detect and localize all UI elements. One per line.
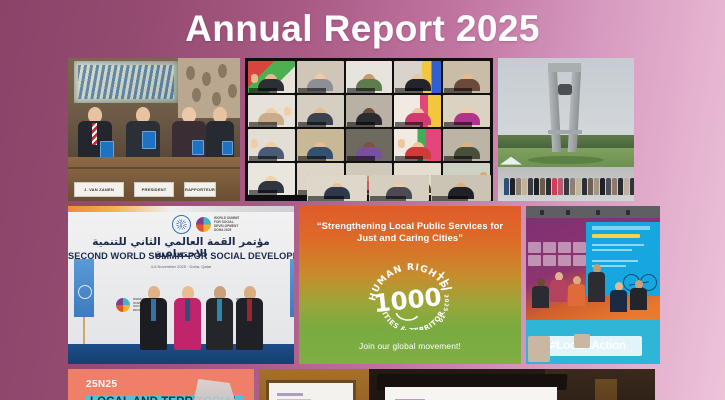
page-title-bar: Annual Report 2025 [0,0,725,56]
collage-tile-un-panel-photo[interactable]: J. VAN ZANEN PRESIDENT RAPPORTEUR [68,58,240,201]
collage-row-bottom: 25N25 LOCAL AND TERRITORIAL GOVERNMENTS [68,369,655,400]
speaker [588,264,605,302]
video-participant-tile[interactable] [248,163,295,195]
video-participant-tile[interactable] [443,95,490,127]
projection-screen [74,61,178,103]
delegate [206,286,233,350]
collage-tile-local-territorial-card[interactable]: 25N25 LOCAL AND TERRITORIAL GOVERNMENTS [68,369,254,400]
lawn [498,148,634,168]
nameplate: J. VAN ZANEN [74,182,124,197]
audience-member [532,278,549,308]
banner-dates: 4-6 November 2025 · Doha, Qatar [68,264,294,269]
monument-crossbeam [548,130,582,134]
audience-member [630,280,647,310]
video-participant-tile[interactable] [248,61,295,93]
wooden-column [595,379,617,400]
collage-tile-social-summit-photo[interactable]: WORLD SUMMIT FOR SOCIAL DEVELOPMENT DOHA… [68,206,294,364]
video-tile-grid-last-row [307,175,491,201]
collage-tile-human-rights-cities-card[interactable]: “Strengthening Local Public Services for… [299,206,521,364]
card-quote: “Strengthening Local Public Services for… [309,220,511,244]
banner-english-title: SECOND WORLD SUMMIT FOR SOCIAL DEVELOPME… [68,251,294,261]
summit-badge: WORLD SUMMIT FOR SOCIAL DEVELOPMENT DOHA… [196,216,240,232]
video-participant-tile[interactable] [307,175,367,201]
ceiling-rig [526,206,660,218]
card-kicker: 25N25 [86,379,117,390]
video-participant-tile[interactable] [346,95,393,127]
video-participant-tile[interactable] [248,129,295,161]
collage-tile-conference-stage-photo[interactable]: #Local4Action [526,206,660,364]
video-participant-tile[interactable] [297,61,344,93]
nameplate: PRESIDENT [134,182,174,197]
statue-illustration [188,379,240,400]
slide-heading [592,234,640,238]
delegate [140,286,167,350]
video-participant-tile[interactable] [369,175,429,201]
annual-report-cover: Annual Report 2025 [0,0,725,400]
audience-member [550,272,567,302]
human-rights-cities-logo-icon: HUMAN RIGHTS CITIES & TERRITORIES 2025-3… [363,258,457,330]
projection-screen-small [269,383,353,400]
summit-badge-icon [196,217,211,232]
video-participant-tile[interactable] [443,129,490,161]
stage-chair [528,336,550,362]
collage-row-top: J. VAN ZANEN PRESIDENT RAPPORTEUR [68,58,655,201]
collage-tile-av-room-photo[interactable] [259,369,655,400]
audience-member [610,282,627,312]
logo-number-text: 1000 [372,282,443,318]
video-participant-tile[interactable] [248,95,295,127]
video-participant-tile[interactable] [431,175,491,201]
collage-tile-virtual-meeting-grid[interactable] [245,58,493,201]
collage-row-middle: WORLD SUMMIT FOR SOCIAL DEVELOPMENT DOHA… [68,206,655,364]
card-call-to-action: Join our global movement! [299,341,521,351]
delegation-group [504,178,634,195]
video-participant-tile[interactable] [394,129,441,161]
monument-sculpture [558,84,572,95]
audience-member [568,276,585,306]
sponsor-icon [116,298,130,312]
video-participant-tile[interactable] [346,129,393,161]
collage-tile-monument-group-photo[interactable] [498,58,634,201]
video-participant-tile[interactable] [394,61,441,93]
backdrop-top-stripe [68,206,294,212]
video-participant-tile[interactable] [443,61,490,93]
summit-badge-text: WORLD SUMMIT FOR SOCIAL DEVELOPMENT DOHA… [214,216,240,232]
delegate [236,286,263,350]
video-participant-tile[interactable] [346,61,393,93]
united-nations-logo-icon [172,215,191,234]
sponsor-logo-wall [528,242,586,266]
video-participant-tile[interactable] [394,95,441,127]
nameplate: RAPPORTEUR [184,182,216,197]
monument-cap [548,63,581,72]
video-participant-tile[interactable] [297,129,344,161]
page-title: Annual Report 2025 [185,10,540,47]
delegate [174,286,201,350]
video-participant-tile[interactable] [297,95,344,127]
stage-chair [574,334,590,348]
photo-collage: J. VAN ZANEN PRESIDENT RAPPORTEUR [68,58,655,400]
